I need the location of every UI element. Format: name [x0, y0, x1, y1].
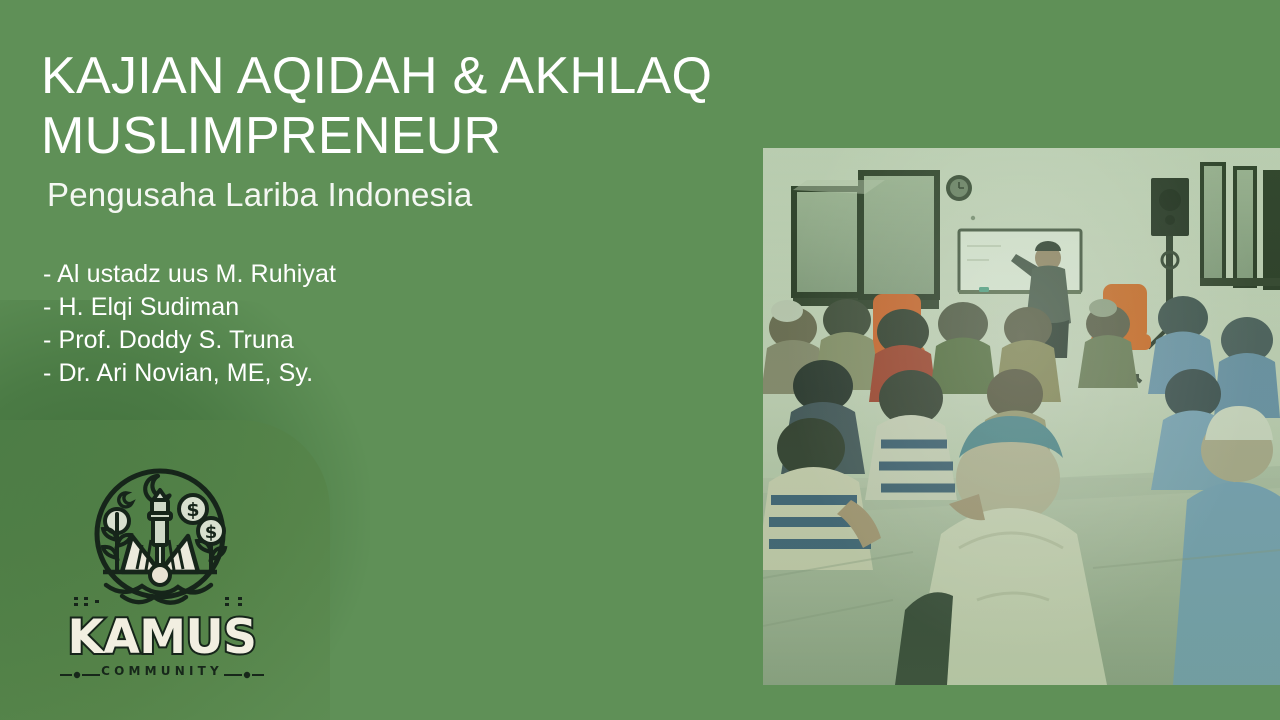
presentation-slide: KAJIAN AQIDAH & AKHLAQ MUSLIMPRENEUR Pen…	[0, 0, 1280, 720]
logo-tagline-rule-right-icon	[222, 670, 266, 680]
slide-title-line-1: KAJIAN AQIDAH & AKHLAQ	[41, 46, 741, 106]
speaker-item: - Al ustadz uus M. Ruhiyat	[43, 258, 741, 291]
wall-clock-icon	[946, 175, 972, 201]
speaker-item: - Dr. Ari Novian, ME, Sy.	[43, 357, 741, 390]
window-group-right	[1200, 162, 1280, 290]
logo-emblem-icon: $ $	[80, 466, 240, 612]
speaker-item: - H. Elqi Sudiman	[43, 291, 741, 324]
slide-title-line-2: MUSLIMPRENEUR	[41, 106, 741, 166]
star-icon	[119, 493, 132, 507]
logo-dot-ornaments-icon	[52, 594, 272, 608]
speaker-item: - Prof. Doddy S. Truna	[43, 324, 741, 357]
logo-wordmark: KAMUS	[52, 612, 272, 664]
minaret-icon	[149, 490, 171, 565]
window-group	[791, 170, 940, 309]
speaker-list: - Al ustadz uus M. Ruhiyat - H. Elqi Sud…	[43, 258, 741, 390]
slide-subtitle: Pengusaha Lariba Indonesia	[47, 174, 741, 216]
kamus-community-logo: $ $	[52, 466, 272, 688]
dollar-coin-icon: $	[186, 499, 199, 521]
photo-scene	[763, 148, 1280, 685]
classroom-lecture-photo	[763, 148, 1280, 685]
text-column: KAJIAN AQIDAH & AKHLAQ MUSLIMPRENEUR Pen…	[41, 46, 741, 406]
dollar-coin-icon: $	[205, 522, 218, 543]
